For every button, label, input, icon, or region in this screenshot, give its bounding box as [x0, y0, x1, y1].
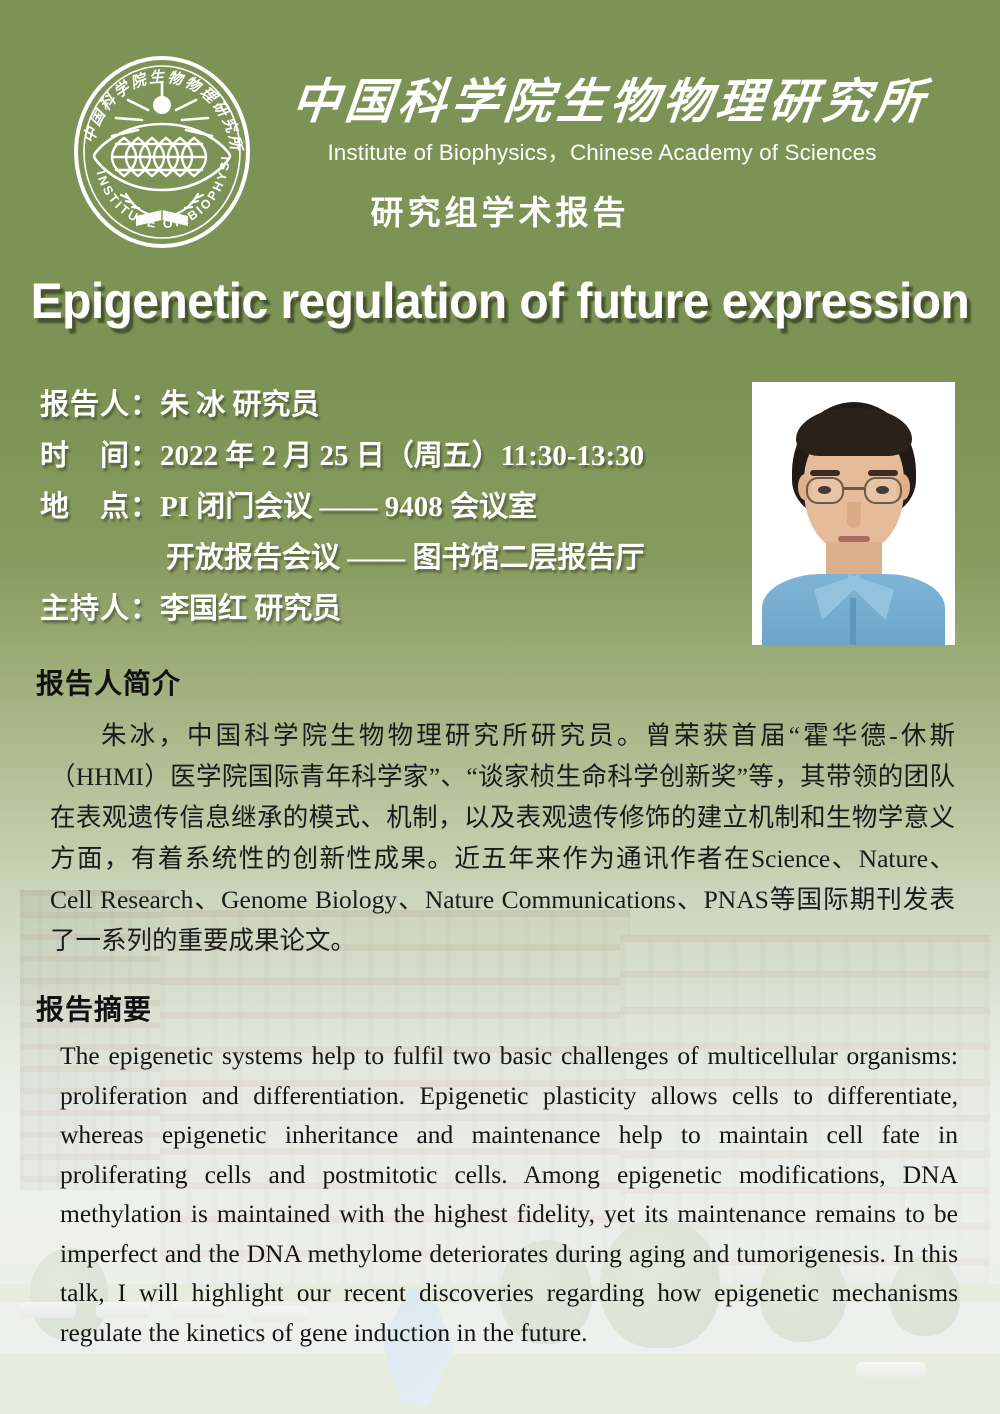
detail-row: 时 间：2022 年 2 月 25 日（周五）11:30-13:30	[40, 431, 740, 482]
speaker-portrait	[752, 382, 955, 645]
portrait-placket	[850, 598, 856, 645]
detail-label: 地 点：	[40, 491, 160, 523]
portrait-glasses-lens-right	[864, 477, 902, 504]
seminar-poster: 中国科学院生物物理研究所 INSTITUTE OF BIOPHYSICS	[0, 0, 1000, 1414]
bio-section-heading: 报告人简介	[36, 662, 181, 702]
portrait-brow-right	[868, 470, 898, 476]
poster-header: 中国科学院生物物理研究所 INSTITUTE OF BIOPHYSICS	[0, 0, 1000, 250]
detail-row: 开放报告会议 —— 图书馆二层报告厅	[40, 533, 740, 584]
series-label: 研究组学术报告	[0, 186, 1000, 234]
portrait-glasses-lens-left	[806, 477, 844, 504]
portrait-fringe	[796, 408, 912, 456]
abstract-section-text: The epigenetic systems help to fulfil tw…	[60, 1036, 958, 1352]
bio-section-text: 朱冰，中国科学院生物物理研究所研究员。曾荣获首届“霍华德-休斯（HHMI）医学院…	[50, 715, 955, 961]
talk-details: 报告人：朱 冰 研究员时 间：2022 年 2 月 25 日（周五）11:30-…	[40, 380, 740, 635]
portrait-glasses-bridge	[844, 487, 864, 490]
detail-label: 报告人：	[40, 389, 160, 421]
detail-label: 主持人：	[40, 593, 160, 625]
masthead: 中国科学院生物物理研究所 Institute of Biophysics，Chi…	[292, 78, 912, 167]
organization-name-en: Institute of Biophysics，Chinese Academy …	[292, 135, 912, 167]
detail-value: 朱 冰 研究员	[160, 389, 320, 421]
detail-value: PI 闭门会议 —— 9408 会议室	[160, 491, 537, 523]
detail-row: 主持人：李国红 研究员	[40, 584, 740, 635]
detail-value: 开放报告会议 —— 图书馆二层报告厅	[166, 542, 645, 574]
detail-label: 时 间：	[40, 440, 160, 472]
talk-title: Epigenetic regulation of future expressi…	[20, 272, 980, 330]
photo-car	[856, 1362, 926, 1378]
abstract-section-heading: 报告摘要	[36, 988, 152, 1028]
detail-value: 2022 年 2 月 25 日（周五）11:30-13:30	[160, 440, 644, 472]
detail-value: 李国红 研究员	[160, 593, 341, 625]
portrait-brow-left	[810, 470, 840, 476]
organization-name-cn: 中国科学院生物物理研究所	[289, 78, 914, 129]
portrait-nose	[847, 502, 861, 528]
detail-row: 地 点：PI 闭门会议 —— 9408 会议室	[40, 482, 740, 533]
portrait-figure	[752, 382, 955, 645]
detail-row: 报告人：朱 冰 研究员	[40, 380, 740, 431]
